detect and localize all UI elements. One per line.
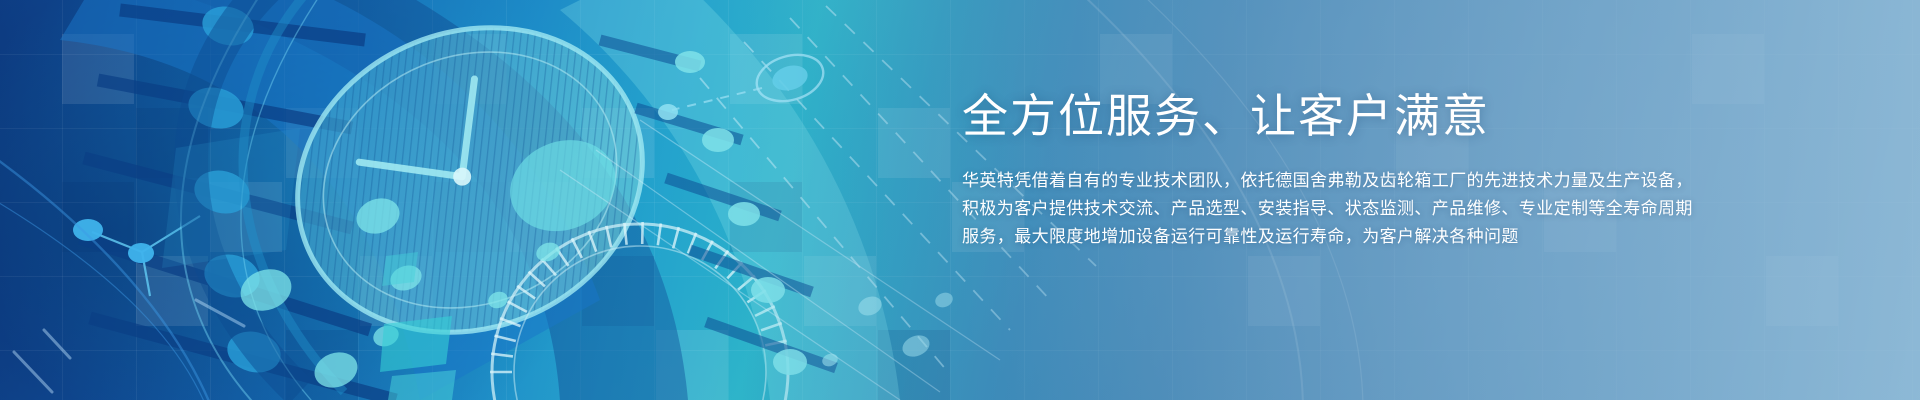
paragraph-line-1: 华英特凭借着自有的专业技术团队，依托德国舍弗勒及齿轮箱工厂的先进技术力量及生产设…: [962, 167, 1862, 195]
banner-paragraph: 华英特凭借着自有的专业技术团队，依托德国舍弗勒及齿轮箱工厂的先进技术力量及生产设…: [962, 144, 1862, 251]
banner-copy: 全方位服务、让客户满意 华英特凭借着自有的专业技术团队，依托德国舍弗勒及齿轮箱工…: [962, 88, 1862, 251]
hatched-wedge: [162, 128, 300, 268]
paragraph-line-3: 服务，最大限度地增加设备运行可靠性及运行寿命，为客户解决各种问题: [962, 223, 1862, 251]
paragraph-line-2: 积极为客户提供技术交流、产品选型、安装指导、状态监测、产品维修、专业定制等全寿命…: [962, 195, 1862, 223]
page-title: 全方位服务、让客户满意: [962, 88, 1862, 144]
hero-banner: 全方位服务、让客户满意 华英特凭借着自有的专业技术团队，依托德国舍弗勒及齿轮箱工…: [0, 0, 1920, 400]
